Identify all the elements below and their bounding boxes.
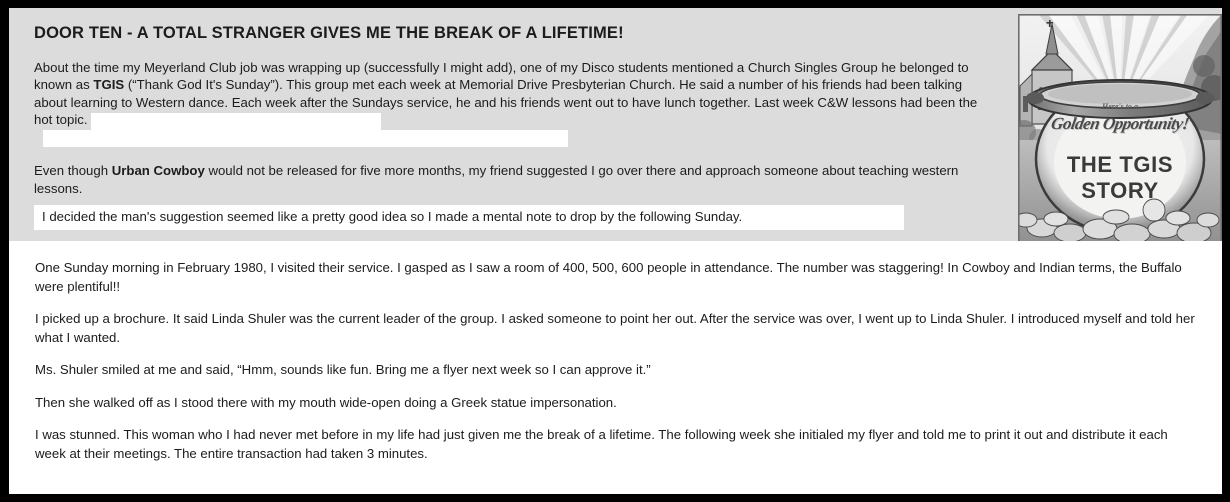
upper-grey-section: DOOR TEN - A TOTAL STRANGER GIVES ME THE… <box>9 8 1222 241</box>
redaction-strip-2 <box>43 130 568 147</box>
tgis-illustration: Here's to a Golden Opportunity! THE TGIS… <box>1018 14 1222 247</box>
document-sheet: DOOR TEN - A TOTAL STRANGER GIVES ME THE… <box>9 8 1222 494</box>
illustration-logo-text: Golden Opportunity! <box>1028 114 1212 134</box>
upper-paragraph-1: About the time my Meyerland Club job was… <box>34 59 989 147</box>
upper-paragraph-2: Even though Urban Cowboy would not be re… <box>34 162 989 197</box>
document-page: DOOR TEN - A TOTAL STRANGER GIVES ME THE… <box>0 0 1230 502</box>
lower-paragraph-5: I was stunned. This woman who I had neve… <box>35 426 1200 463</box>
lower-paragraph-2: I picked up a brochure. It said Linda Sh… <box>35 310 1200 347</box>
upper-paragraph-2-bold-urban-cowboy: Urban Cowboy <box>112 163 205 178</box>
lower-white-section: One Sunday morning in February 1980, I v… <box>9 241 1222 473</box>
page-title: DOOR TEN - A TOTAL STRANGER GIVES ME THE… <box>34 24 989 43</box>
redaction-strip-1 <box>91 113 381 130</box>
illustration-logo-subtext: Here's to a <box>1030 102 1210 111</box>
highlighted-sentence: I decided the man's suggestion seemed li… <box>34 205 904 230</box>
pot-rim <box>1026 80 1214 118</box>
lower-paragraph-4: Then she walked off as I stood there wit… <box>35 394 1200 413</box>
upper-paragraph-1-bold-tgis: TGIS <box>93 77 124 92</box>
upper-paragraph-2-text-a: Even though <box>34 163 112 178</box>
illustration-title-line-2: STORY <box>1018 178 1222 204</box>
lower-paragraph-3: Ms. Shuler smiled at me and said, “Hmm, … <box>35 361 1200 380</box>
illustration-title-line-1: THE TGIS <box>1018 152 1222 178</box>
upper-text-column: DOOR TEN - A TOTAL STRANGER GIVES ME THE… <box>9 24 999 230</box>
lower-paragraph-1: One Sunday morning in February 1980, I v… <box>35 259 1200 296</box>
